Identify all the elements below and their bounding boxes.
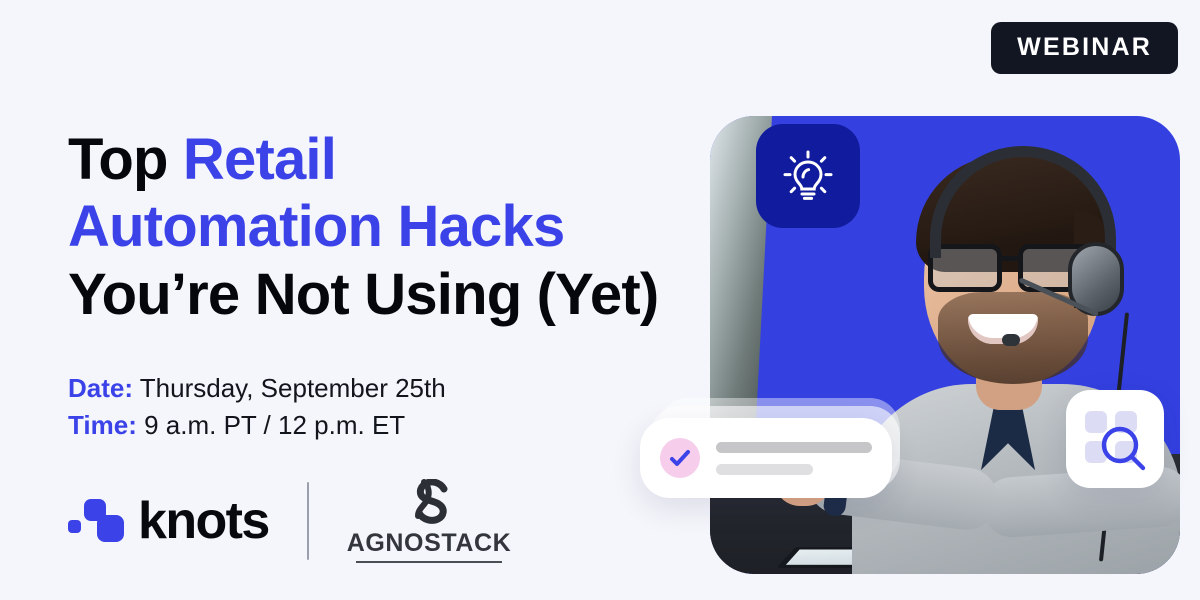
agnostack-underline: [356, 561, 502, 563]
knots-logo: knots: [68, 495, 269, 547]
lightbulb-badge: [756, 124, 860, 228]
headline-accent-automation-hacks: Automation Hacks: [68, 194, 564, 259]
task-placeholder-lines: [716, 442, 872, 475]
content-column: Top Retail Automation Hacks You’re Not U…: [68, 126, 688, 445]
page-title: Top Retail Automation Hacks You’re Not U…: [68, 126, 688, 328]
task-card: [640, 418, 892, 498]
date-label: Date:: [68, 373, 133, 403]
headset-headband: [930, 146, 1116, 258]
time-value: 9 a.m. PT / 12 p.m. ET: [144, 410, 405, 440]
event-details: Date: Thursday, September 25th Time: 9 a…: [68, 370, 688, 445]
knots-wordmark: knots: [138, 495, 269, 547]
headline-line-3: You’re Not Using (Yet): [68, 262, 658, 327]
date-value: Thursday, September 25th: [140, 373, 446, 403]
headline-accent-retail: Retail: [183, 127, 336, 192]
grid-squares-icon: [1083, 407, 1147, 471]
agnostack-wordmark: AGNOSTACK: [347, 531, 512, 556]
media-composition: [636, 0, 1200, 600]
agnostack-logo: AGNOSTACK: [347, 479, 512, 563]
event-date-row: Date: Thursday, September 25th: [68, 370, 688, 408]
knots-nodes-icon: [68, 498, 124, 544]
task-line-primary: [716, 442, 872, 453]
check-circle: [660, 438, 700, 478]
agnostack-s-monogram-icon: [400, 479, 458, 529]
headline-plain-top: Top: [68, 127, 183, 192]
logo-divider: [307, 482, 309, 560]
headset-microphone: [1002, 334, 1020, 346]
task-line-secondary: [716, 464, 813, 475]
person-figure: [860, 116, 1180, 574]
event-time-row: Time: 9 a.m. PT / 12 p.m. ET: [68, 407, 688, 445]
webinar-promo-banner: WEBINAR Top Retail Automation Hacks You’…: [0, 0, 1200, 600]
logo-row: knots AGNOSTACK: [68, 476, 511, 566]
headline-line-1: Top Retail: [68, 127, 336, 192]
check-icon: [668, 446, 692, 470]
search-card: [1066, 390, 1164, 488]
time-label: Time:: [68, 410, 137, 440]
lightbulb-icon: [776, 144, 840, 208]
